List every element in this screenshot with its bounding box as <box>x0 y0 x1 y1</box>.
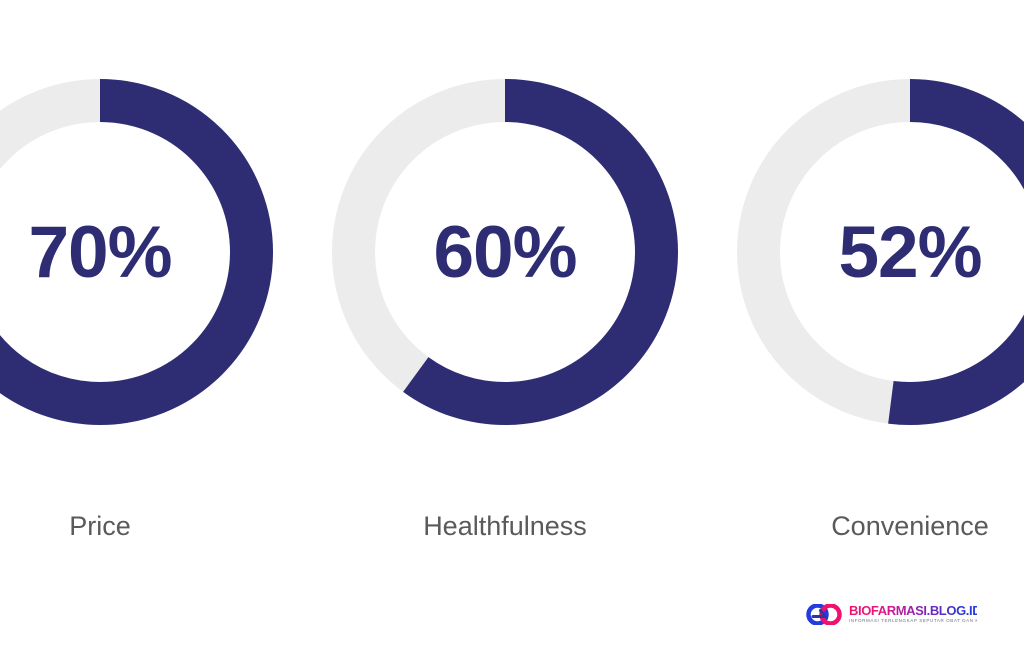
watermark-subtitle: INFORMASI TERLENGKAP SEPUTAR OBAT DAN KE… <box>849 619 977 624</box>
chart-canvas: 70% 60% 52% Price Healthfulness Convenie… <box>0 0 1024 653</box>
donut-caption-convenience: Convenience <box>737 510 1024 542</box>
site-watermark: BIOFARMASI.BLOG.ID INFORMASI TERLENGKAP … <box>805 601 977 627</box>
watermark-text-wrap: BIOFARMASI.BLOG.ID INFORMASI TERLENGKAP … <box>849 604 977 624</box>
donut-value-label-price: 70% <box>0 79 273 425</box>
donut-chart-group: 70% 60% 52% <box>0 0 1024 653</box>
donut-chart-convenience[interactable]: 52% <box>737 79 1024 425</box>
donut-chart-price[interactable]: 70% <box>0 79 273 425</box>
donut-value-label-healthfulness: 60% <box>332 79 678 425</box>
infinity-loop-logo-icon <box>805 604 845 625</box>
donut-value-label-convenience: 52% <box>737 79 1024 425</box>
donut-chart-healthfulness[interactable]: 60% <box>332 79 678 425</box>
donut-caption-healthfulness: Healthfulness <box>332 510 678 542</box>
watermark-title: BIOFARMASI.BLOG.ID <box>849 604 977 617</box>
donut-caption-price: Price <box>0 510 273 542</box>
